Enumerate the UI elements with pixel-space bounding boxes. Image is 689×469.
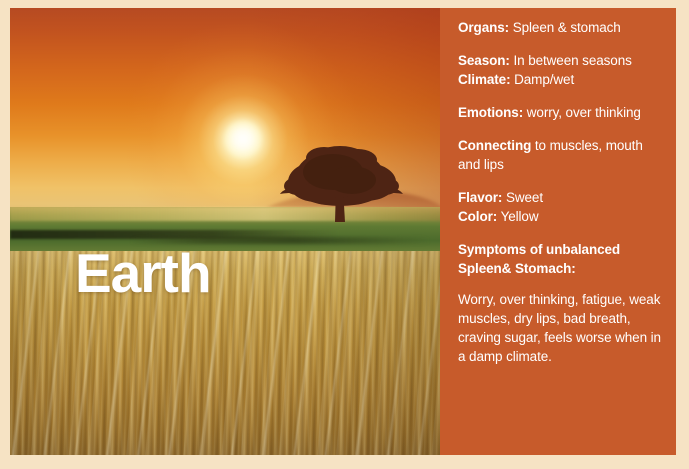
symptoms-heading: Symptoms of unbalanced Spleen& Stomach: — [458, 240, 664, 278]
flavor-row: Flavor: Sweet — [458, 188, 664, 207]
flavor-label: Flavor: — [458, 190, 502, 205]
climate-row: Climate: Damp/wet — [458, 70, 664, 89]
earth-element-card: Earth Organs: Spleen & stomach Season: I… — [0, 0, 689, 469]
spacer — [458, 226, 664, 240]
organs-label: Organs: — [458, 20, 509, 35]
page-title: Earth — [75, 246, 211, 301]
connecting-label: Connecting — [458, 138, 531, 153]
climate-value: Damp/wet — [510, 72, 574, 87]
season-row: Season: In between seasons — [458, 51, 664, 70]
sun-icon — [223, 119, 263, 159]
organs-value: Spleen & stomach — [509, 20, 621, 35]
color-value: Yellow — [497, 209, 538, 224]
spacer — [458, 89, 664, 103]
emotions-label: Emotions: — [458, 105, 523, 120]
info-panel: Organs: Spleen & stomach Season: In betw… — [440, 8, 676, 455]
spacer — [458, 122, 664, 136]
organs-row: Organs: Spleen & stomach — [458, 18, 664, 37]
spacer — [458, 278, 664, 290]
spacer — [458, 174, 664, 188]
spacer — [458, 37, 664, 51]
season-label: Season: — [458, 53, 510, 68]
connecting-row: Connecting to muscles, mouth and lips — [458, 136, 664, 174]
tree-silhouette-icon — [278, 136, 404, 224]
color-label: Color: — [458, 209, 497, 224]
earth-photo: Earth — [10, 8, 448, 455]
flavor-value: Sweet — [502, 190, 543, 205]
color-row: Color: Yellow — [458, 207, 664, 226]
climate-label: Climate: — [458, 72, 510, 87]
season-value: In between seasons — [510, 53, 632, 68]
symptoms-body: Worry, over thinking, fatigue, weak musc… — [458, 290, 664, 366]
emotions-row: Emotions: worry, over thinking — [458, 103, 664, 122]
emotions-value: worry, over thinking — [523, 105, 641, 120]
